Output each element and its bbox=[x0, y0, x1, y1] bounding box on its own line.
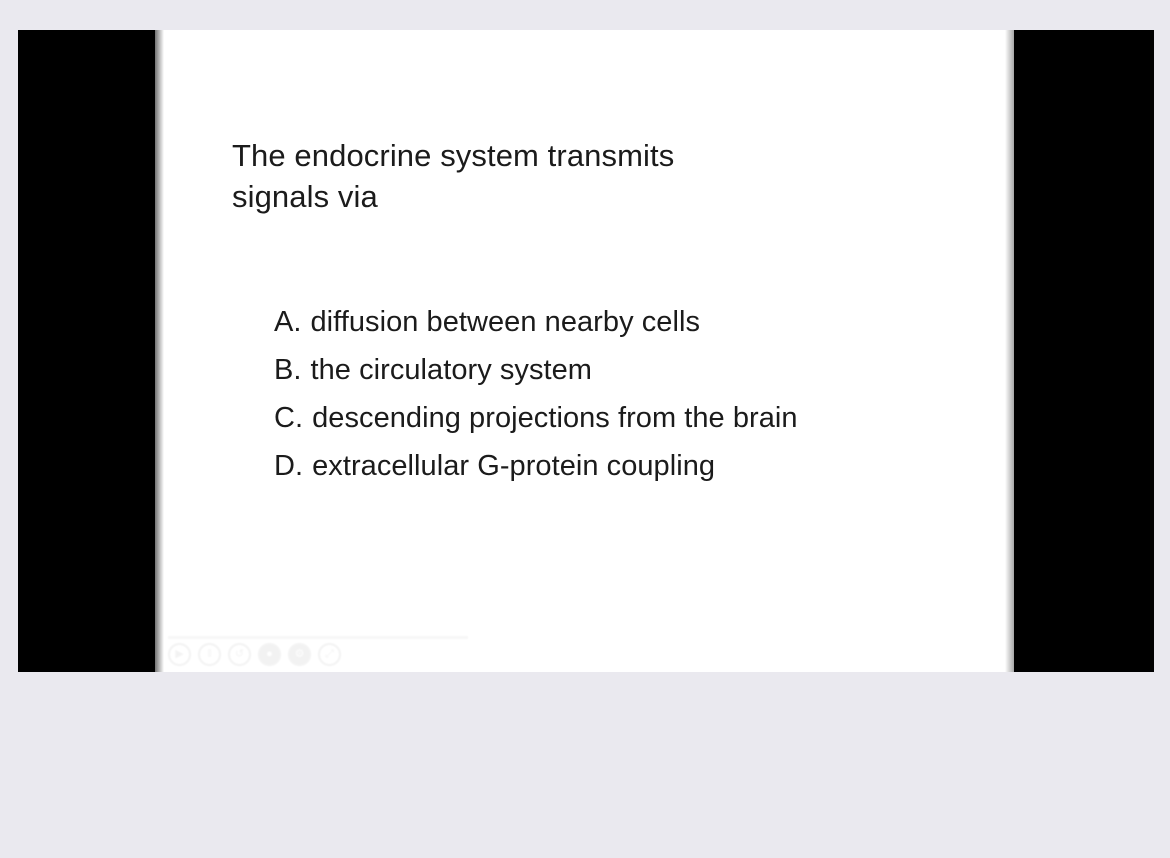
answer-option-c-letter: C. bbox=[274, 403, 303, 434]
slide-edge-shadow-left bbox=[155, 30, 164, 672]
answer-option-c[interactable]: C. descending projections from the brain bbox=[274, 403, 994, 434]
rewind-icon[interactable]: ↺ bbox=[228, 643, 251, 666]
settings-icon[interactable]: ⚙ bbox=[288, 643, 311, 666]
answer-option-a-text: diffusion between nearby cells bbox=[311, 307, 701, 338]
answer-option-d-letter: D. bbox=[274, 451, 303, 482]
player-control-bar[interactable]: ▶ ‖ ↺ ● ⚙ ⤢ bbox=[168, 643, 341, 665]
fullscreen-icon[interactable]: ⤢ bbox=[318, 643, 341, 666]
answer-option-a-letter: A. bbox=[274, 307, 302, 338]
answer-option-d[interactable]: D. extracellular G-protein coupling bbox=[274, 451, 994, 482]
slide-question-heading: The endocrine system transmits signals v… bbox=[232, 135, 882, 217]
letterbox-bar-right bbox=[1014, 30, 1154, 672]
pause-icon[interactable]: ‖ bbox=[198, 643, 221, 666]
play-icon[interactable]: ▶ bbox=[168, 643, 191, 666]
answer-option-c-text: descending projections from the brain bbox=[312, 403, 797, 434]
presentation-slide: The endocrine system transmits signals v… bbox=[155, 30, 1014, 672]
answer-option-b-letter: B. bbox=[274, 355, 302, 386]
volume-icon[interactable]: ● bbox=[258, 643, 281, 666]
video-player-frame[interactable]: The endocrine system transmits signals v… bbox=[18, 30, 1154, 672]
letterbox-bar-left bbox=[18, 30, 156, 672]
slide-edge-shadow-right bbox=[1005, 30, 1014, 672]
answer-option-a[interactable]: A. diffusion between nearby cells bbox=[274, 307, 994, 338]
progress-bar[interactable] bbox=[168, 636, 468, 639]
answer-option-b-text: the circulatory system bbox=[311, 355, 593, 386]
answer-option-b[interactable]: B. the circulatory system bbox=[274, 355, 994, 386]
answer-options-list: A. diffusion between nearby cells B. the… bbox=[274, 307, 994, 482]
answer-option-d-text: extracellular G-protein coupling bbox=[312, 451, 715, 482]
